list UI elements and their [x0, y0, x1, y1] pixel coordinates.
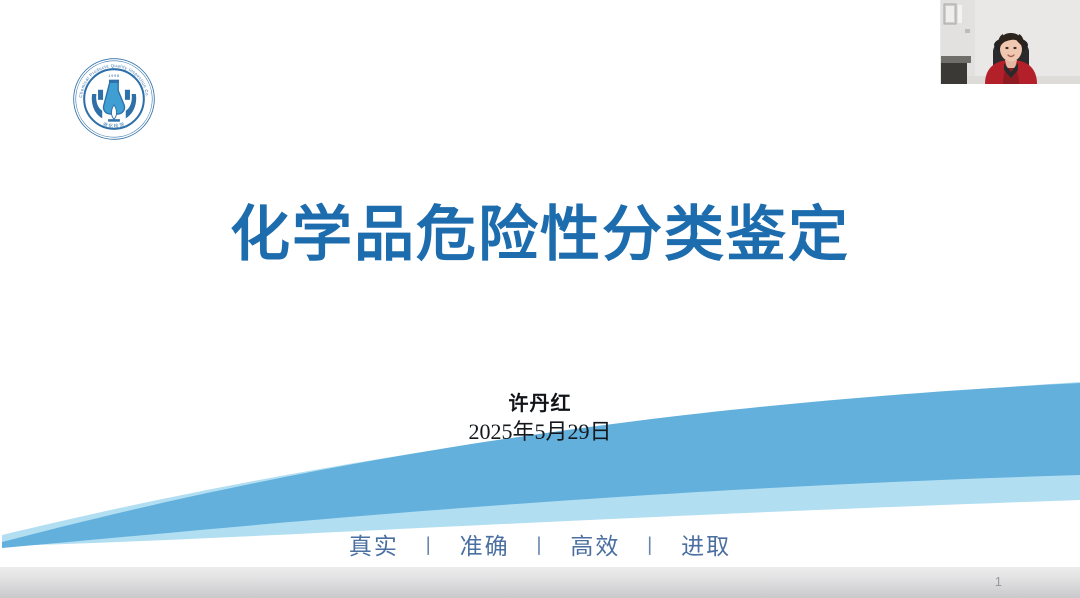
- tagline-word-3: 高效: [570, 527, 620, 561]
- tagline-word-2: 准确: [460, 527, 510, 561]
- tagline-separator-1: 丨: [418, 530, 440, 559]
- presentation-slide: Chemical Products Quality Inspection Co.…: [0, 0, 1080, 567]
- presenter-block: 许丹红 2025年5月29日: [0, 392, 1080, 446]
- company-logo: Chemical Products Quality Inspection Co.…: [72, 57, 156, 141]
- svg-text:1998: 1998: [108, 74, 119, 78]
- slide-title: 化学品危险性分类鉴定: [0, 186, 1080, 273]
- footer-bar: 1: [0, 567, 1080, 598]
- screen-root: Chemical Products Quality Inspection Co.…: [0, 0, 1080, 598]
- tagline-word-4: 进取: [681, 527, 731, 561]
- tagline-separator-2: 丨: [529, 530, 551, 559]
- company-tagline: 真实 丨 准确 丨 高效 丨 进取: [0, 527, 1080, 561]
- tagline-word-1: 真实: [349, 527, 399, 561]
- presenter-video-thumbnail[interactable]: [940, 0, 1080, 84]
- page-number: 1: [995, 574, 1002, 589]
- tagline-separator-3: 丨: [640, 530, 662, 559]
- presentation-date: 2025年5月29日: [0, 418, 1080, 446]
- presenter-name: 许丹红: [0, 392, 1080, 416]
